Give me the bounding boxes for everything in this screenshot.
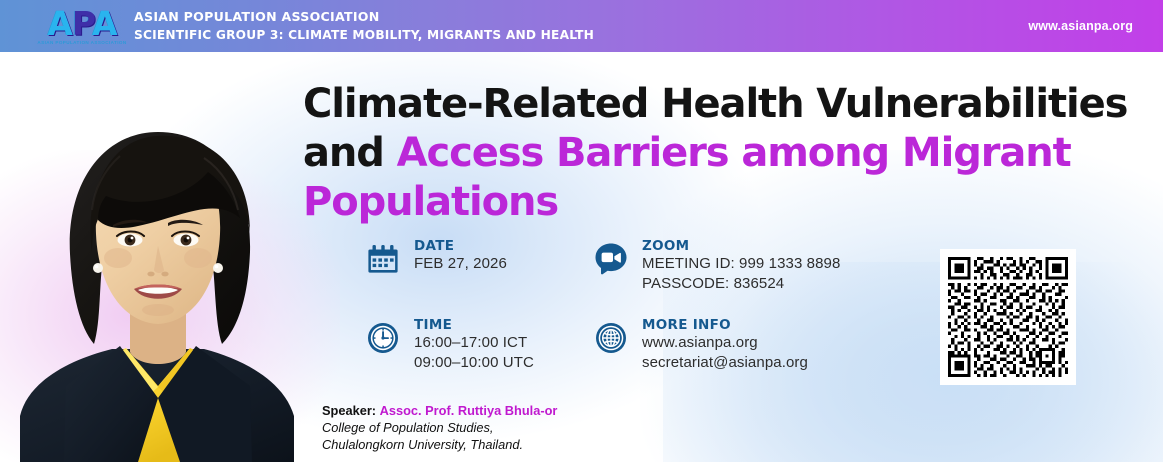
qr-code-image — [948, 257, 1068, 377]
title-line-2-plain: and — [303, 130, 397, 176]
header-website-link[interactable]: www.asianpa.org — [1028, 19, 1133, 33]
speaker-affiliation-line-1: College of Population Studies, — [322, 419, 557, 436]
webinar-announcement-poster: APA ASIAN POPULATION ASSOCIATION ASIAN P… — [0, 0, 1163, 462]
page-title: Climate-Related Health Vulnerabilities a… — [303, 80, 1103, 227]
time-value-ict: 16:00–17:00 ICT — [414, 333, 534, 353]
zoom-passcode: PASSCODE: 836524 — [642, 274, 840, 294]
date-text: DATE FEB 27, 2026 — [414, 238, 507, 274]
speaker-prefix-label: Speaker: — [322, 403, 376, 418]
page-header: APA ASIAN POPULATION ASSOCIATION ASIAN P… — [0, 0, 1163, 52]
time-value-utc: 09:00–10:00 UTC — [414, 353, 534, 373]
title-line-3: Populations — [303, 178, 1103, 227]
info-item-time: TIME 16:00–17:00 ICT 09:00–10:00 UTC — [365, 317, 593, 372]
event-details: DATE FEB 27, 2026 ZOOM MEETING ID: 999 1… — [365, 238, 925, 372]
date-value: FEB 27, 2026 — [414, 254, 507, 274]
apa-logo-icon: APA ASIAN POPULATION ASSOCIATION — [44, 4, 120, 48]
more-info-website[interactable]: www.asianpa.org — [642, 333, 808, 353]
globe-icon — [593, 320, 629, 356]
info-item-zoom: ZOOM MEETING ID: 999 1333 8898 PASSCODE:… — [593, 238, 923, 293]
info-item-date: DATE FEB 27, 2026 — [365, 238, 593, 293]
speaker-affiliation-line-2: Chulalongkorn University, Thailand. — [322, 436, 557, 453]
speaker-name: Assoc. Prof. Ruttiya Bhula-or — [380, 403, 558, 418]
calendar-icon — [365, 241, 401, 277]
info-row-time-moreinfo: TIME 16:00–17:00 ICT 09:00–10:00 UTC — [365, 317, 925, 372]
time-label: TIME — [414, 317, 534, 333]
zoom-text: ZOOM MEETING ID: 999 1333 8898 PASSCODE:… — [642, 238, 840, 293]
title-line-2: and Access Barriers among Migrant — [303, 129, 1103, 178]
title-line-1: Climate-Related Health Vulnerabilities — [303, 80, 1103, 129]
zoom-meeting-id: MEETING ID: 999 1333 8898 — [642, 254, 840, 274]
header-title-group: ASIAN POPULATION ASSOCIATION SCIENTIFIC … — [134, 9, 594, 43]
clock-icon — [365, 320, 401, 356]
speaker-info: Speaker: Assoc. Prof. Ruttiya Bhula-or C… — [322, 402, 557, 453]
time-text: TIME 16:00–17:00 ICT 09:00–10:00 UTC — [414, 317, 534, 372]
more-info-text: MORE INFO www.asianpa.org secretariat@as… — [642, 317, 808, 372]
speaker-portrait — [8, 86, 308, 462]
more-info-label: MORE INFO — [642, 317, 808, 333]
zoom-label: ZOOM — [642, 238, 840, 254]
speaker-name-row: Speaker: Assoc. Prof. Ruttiya Bhula-or — [322, 402, 557, 419]
info-row-date-zoom: DATE FEB 27, 2026 ZOOM MEETING ID: 999 1… — [365, 238, 925, 293]
video-camera-icon — [593, 241, 629, 277]
qr-code[interactable] — [940, 249, 1076, 385]
title-line-2-accent: Access Barriers among Migrant — [397, 130, 1071, 176]
apa-logo-lettermark: APA — [47, 8, 116, 39]
scientific-group-name: SCIENTIFIC GROUP 3: CLIMATE MOBILITY, MI… — [134, 27, 594, 43]
apa-logo-subtitle: ASIAN POPULATION ASSOCIATION — [37, 40, 126, 45]
info-item-more-info: MORE INFO www.asianpa.org secretariat@as… — [593, 317, 923, 372]
organization-name: ASIAN POPULATION ASSOCIATION — [134, 9, 594, 25]
more-info-email[interactable]: secretariat@asianpa.org — [642, 353, 808, 373]
date-label: DATE — [414, 238, 507, 254]
